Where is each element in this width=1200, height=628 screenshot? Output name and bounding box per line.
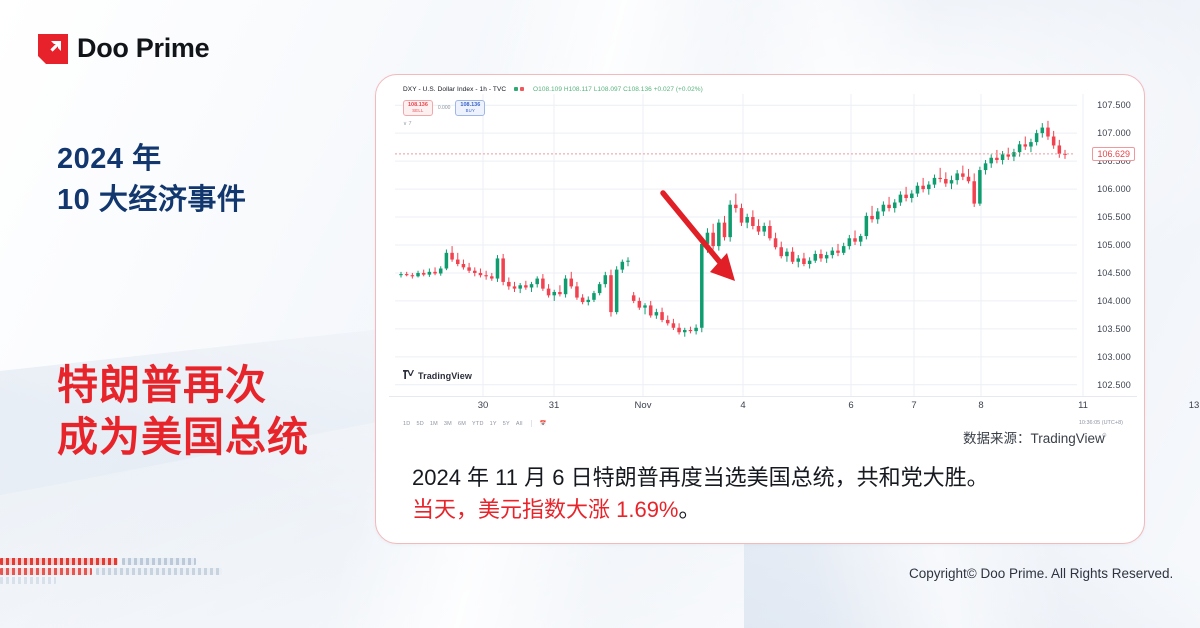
timeframe-5y[interactable]: 5Y: [503, 421, 510, 427]
spread-value: 0.000: [438, 105, 451, 111]
price-tick-label: 105.000: [1097, 240, 1131, 250]
buy-sell-row[interactable]: 108.136 SELL 0.000 108.136 BUY: [403, 100, 485, 116]
buy-button[interactable]: 108.136 BUY: [455, 100, 485, 116]
time-tick-label: 30: [478, 400, 489, 411]
brand-name: Doo Prime: [77, 33, 209, 64]
tradingview-label: TradingView: [418, 371, 472, 381]
price-tick-label: 105.500: [1097, 212, 1131, 222]
data-source-label: 数据来源：TradingView: [963, 427, 1105, 447]
price-tick-label: 107.500: [1097, 100, 1131, 110]
chart-symbol-label: DXY - U.S. Dollar Index - 1h - TVC: [403, 86, 506, 93]
price-tick-label: 102.500: [1097, 380, 1131, 390]
buy-label: BUY: [460, 109, 480, 113]
chart-canvas: [389, 80, 1137, 430]
timeframe-1m[interactable]: 1M: [430, 421, 438, 427]
price-axis[interactable]: 107.500107.000106.500106.000105.500105.0…: [1069, 80, 1137, 410]
candlestick-plot: [389, 80, 1137, 430]
timeframe-5d[interactable]: 5D: [416, 421, 423, 427]
kicker-line-2: 10 大经济事件: [57, 180, 246, 221]
price-tick-label: 103.000: [1097, 352, 1131, 362]
tradingview-watermark: TradingView: [403, 370, 472, 381]
calendar-icon[interactable]: 📅: [540, 421, 547, 427]
caption-block: 2024 年 11 月 6 日特朗普再度当选美国总统，共和党大胜。 当天，美元指…: [412, 462, 1132, 526]
time-tick-label: 8: [978, 400, 983, 411]
doo-prime-mark-icon: [38, 34, 68, 64]
time-tick-label: 7: [911, 400, 916, 411]
timeframe-6m[interactable]: 6M: [458, 421, 466, 427]
decorative-bars: [0, 558, 260, 584]
price-tick-label: 104.000: [1097, 296, 1131, 306]
brand-logo: Doo Prime: [38, 33, 209, 64]
price-tick-label: 103.500: [1097, 324, 1131, 334]
tradingview-chart[interactable]: DXY - U.S. Dollar Index - 1h - TVC O108.…: [389, 80, 1137, 430]
chart-series-dots-icon: [514, 86, 524, 93]
headline-line-1: 特朗普再次: [57, 359, 309, 411]
caption-line-1: 2024 年 11 月 6 日特朗普再度当选美国总统，共和党大胜。: [412, 462, 1132, 494]
caption-highlight: 当天，美元指数大涨 1.69%: [412, 497, 679, 522]
price-tick-label: 106.000: [1097, 184, 1131, 194]
time-tick-label: 4: [740, 400, 745, 411]
time-tick-label: 31: [549, 400, 560, 411]
caption-line-2: 当天，美元指数大涨 1.69%。: [412, 494, 1132, 526]
copyright-text: Copyright© Doo Prime. All Rights Reserve…: [909, 566, 1173, 581]
page-title: 特朗普再次 成为美国总统: [57, 359, 309, 464]
tradingview-icon: [403, 370, 414, 381]
timeframe-1d[interactable]: 1D: [403, 421, 410, 427]
sell-label: SELL: [408, 109, 428, 113]
chart-ohlc-values: O108.109 H108.117 L108.097 C108.136 +0.0…: [533, 86, 703, 93]
chart-symbol-header: DXY - U.S. Dollar Index - 1h - TVC O108.…: [403, 86, 703, 93]
timeframe-all[interactable]: All: [516, 421, 523, 427]
time-tick-label: 13: [1189, 400, 1200, 411]
last-price-tag: 106.629: [1092, 147, 1135, 161]
time-tick-label: 6: [848, 400, 853, 411]
time-tick-label: Nov: [635, 400, 652, 411]
price-tick-label: 104.500: [1097, 268, 1131, 278]
headline-line-2: 成为美国总统: [57, 411, 309, 463]
kicker-heading: 2024 年 10 大经济事件: [57, 139, 246, 221]
timeframe-toolbar[interactable]: 1D5D1M3M6MYTD1Y5YAll📅: [403, 420, 547, 427]
secondary-legend[interactable]: ∨ 7: [403, 121, 412, 127]
kicker-line-1: 2024 年: [57, 139, 246, 180]
time-axis[interactable]: 3031Nov4678111314: [389, 400, 1069, 422]
timeframe-3m[interactable]: 3M: [444, 421, 452, 427]
time-tick-label: 11: [1078, 400, 1088, 411]
caption-period: 。: [679, 497, 701, 522]
timeframe-1y[interactable]: 1Y: [490, 421, 497, 427]
price-tick-label: 107.000: [1097, 128, 1131, 138]
toolbar-divider: [531, 420, 532, 427]
axis-divider: [389, 396, 1137, 397]
chart-clock: 10:36:05 (UTC+8): [1079, 420, 1123, 426]
sell-button[interactable]: 108.136 SELL: [403, 100, 433, 116]
timeframe-ytd[interactable]: YTD: [472, 421, 484, 427]
